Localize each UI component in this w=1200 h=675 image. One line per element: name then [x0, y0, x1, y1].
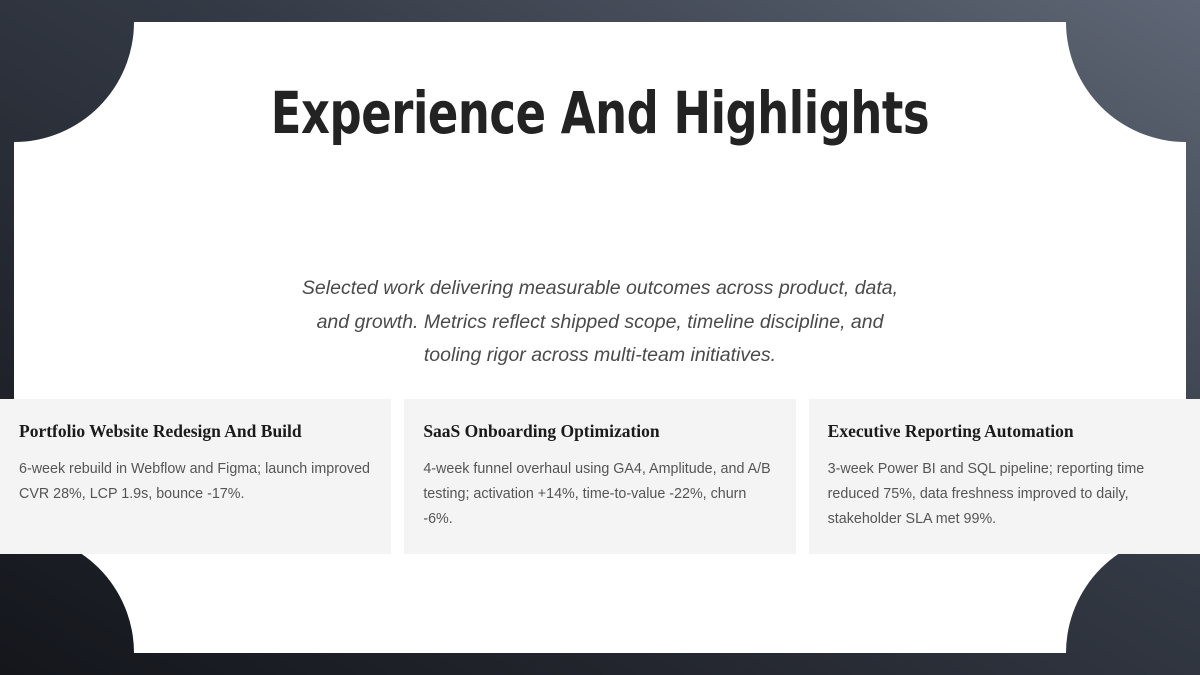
card-title: Portfolio Website Redesign And Build — [19, 420, 372, 442]
panel-content: Experience And Highlights Selected work … — [14, 22, 1186, 653]
card-title: Executive Reporting Automation — [828, 420, 1181, 442]
highlight-cards: Portfolio Website Redesign And Build 6-w… — [0, 399, 1200, 554]
card-title: SaaS Onboarding Optimization — [423, 420, 776, 442]
page-subtitle: Selected work delivering measurable outc… — [300, 272, 900, 373]
page-title: Experience And Highlights — [96, 80, 1104, 146]
slide: Experience And Highlights Selected work … — [0, 0, 1200, 675]
highlight-card[interactable]: Executive Reporting Automation 3-week Po… — [809, 399, 1200, 554]
highlight-card[interactable]: SaaS Onboarding Optimization 4-week funn… — [404, 399, 795, 554]
card-body: 4-week funnel overhaul using GA4, Amplit… — [423, 457, 776, 532]
card-body: 6-week rebuild in Webflow and Figma; lau… — [19, 457, 372, 507]
card-body: 3-week Power BI and SQL pipeline; report… — [828, 457, 1181, 532]
highlight-card[interactable]: Portfolio Website Redesign And Build 6-w… — [0, 399, 391, 554]
